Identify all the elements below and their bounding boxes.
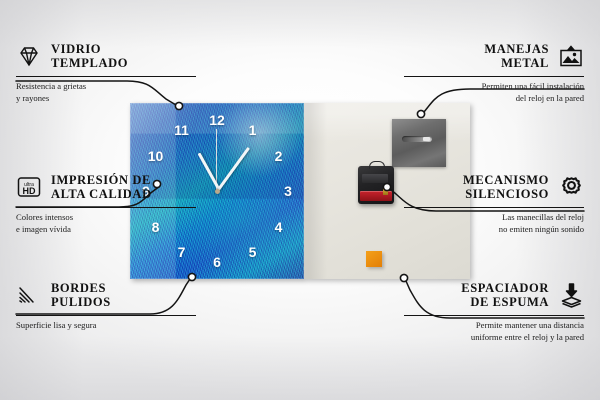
bracket-keyhole-slot [402, 136, 432, 142]
feature-description: Colores intensos e imagen vívida [16, 212, 196, 235]
foam-spacer-pad [366, 251, 382, 267]
feature-impresion-alta-calidad: ultra HD IMPRESIÓN DE ALTA CALIDAD Color… [16, 173, 196, 235]
clock-numeral-1: 1 [249, 123, 257, 137]
divider [404, 207, 584, 208]
feature-title: MECANISMO SILENCIOSO [463, 173, 549, 202]
feature-description: Superficie lisa y segura [16, 320, 196, 332]
feature-vidrio-templado: VIDRIO TEMPLADO Resistencia a grietas y … [16, 42, 196, 104]
clock-numeral-6: 6 [213, 255, 221, 269]
feature-manejas-metal: MANEJAS METAL Permiten una fácil instala… [404, 42, 584, 104]
svg-text:HD: HD [23, 186, 36, 196]
picture-hanger-icon [558, 43, 584, 69]
clock-numeral-3: 3 [284, 184, 292, 198]
divider [404, 315, 584, 316]
feature-title: VIDRIO TEMPLADO [51, 42, 128, 71]
feature-description: Las manecillas del reloj no emiten ningú… [404, 212, 584, 235]
clock-center-cap [215, 189, 220, 194]
diamond-icon [16, 43, 42, 69]
feature-description: Resistencia a grietas y rayones [16, 81, 196, 104]
divider [16, 315, 196, 316]
clock-numeral-10: 10 [148, 149, 164, 163]
clock-numeral-5: 5 [249, 245, 257, 259]
clock-numeral-2: 2 [275, 149, 283, 163]
mechanism-battery [360, 191, 392, 201]
clock-numeral-7: 7 [178, 245, 186, 259]
feature-title: ESPACIADOR DE ESPUMA [461, 281, 549, 310]
clock-mechanism [358, 166, 394, 204]
metal-hanger-bracket [392, 119, 446, 167]
clock-numeral-11: 11 [174, 123, 189, 137]
mechanism-hanger-loop [369, 161, 385, 169]
feature-mecanismo-silencioso: MECANISMO SILENCIOSO Las manecillas del … [404, 173, 584, 235]
polished-edges-icon [16, 282, 42, 308]
clock-numeral-4: 4 [275, 220, 283, 234]
divider [404, 76, 584, 77]
feature-description: Permiten una fácil instalación del reloj… [404, 81, 584, 104]
feature-espaciador-espuma: ESPACIADOR DE ESPUMA Permite mantener un… [404, 281, 584, 343]
feature-title: MANEJAS METAL [484, 42, 549, 71]
divider [16, 207, 196, 208]
feature-title: IMPRESIÓN DE ALTA CALIDAD [51, 173, 152, 202]
feature-bordes-pulidos: BORDES PULIDOS Superficie lisa y segura [16, 281, 196, 332]
clock-numeral-12: 12 [209, 113, 225, 127]
infographic-canvas: 121234567891011 [0, 0, 600, 400]
mechanism-body-detail [362, 174, 388, 183]
gear-icon [558, 174, 584, 200]
feature-title: BORDES PULIDOS [51, 281, 111, 310]
foam-spacer-icon [558, 282, 584, 308]
ultra-hd-icon: ultra HD [16, 174, 42, 200]
feature-description: Permite mantener una distancia uniforme … [404, 320, 584, 343]
divider [16, 76, 196, 77]
